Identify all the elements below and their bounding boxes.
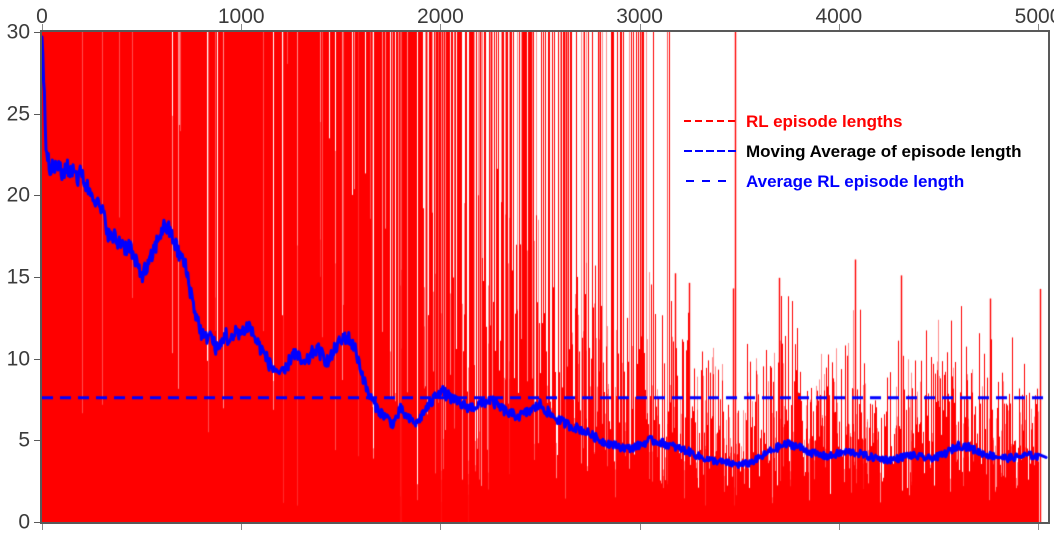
- legend-line-sample-blue-icon: [684, 145, 736, 157]
- y-tick-label-25: 25: [0, 103, 30, 124]
- y-tick-label-20: 20: [0, 185, 30, 206]
- legend-label-episode-lengths: RL episode lengths: [746, 113, 903, 130]
- plot-area: [40, 30, 1050, 524]
- x-tick-mark-bottom: [640, 524, 641, 530]
- chart-legend: RL episode lengths Moving Average of epi…: [684, 106, 1024, 196]
- y-tick-label-30: 30: [0, 22, 30, 43]
- legend-entry-moving-average: Moving Average of episode length: [684, 136, 1024, 166]
- legend-line-sample-blue-dashed-icon: [684, 175, 736, 187]
- y-tick-label-15: 15: [0, 267, 30, 288]
- x-tick-mark-bottom: [42, 524, 43, 530]
- x-tick-mark-bottom: [440, 524, 441, 530]
- legend-label-moving-average: Moving Average of episode length: [746, 143, 1022, 160]
- legend-line-sample-red-icon: [684, 115, 736, 127]
- y-tick-label-5: 5: [0, 430, 30, 451]
- y-tick-label-0: 0: [0, 512, 30, 533]
- x-tick-mark-bottom: [241, 524, 242, 530]
- x-tick-mark-bottom: [839, 524, 840, 530]
- x-tick-label-5000: 5000: [1015, 6, 1054, 27]
- legend-label-average-line: Average RL episode length: [746, 173, 964, 190]
- y-tick-label-10: 10: [0, 348, 30, 369]
- legend-entry-episode-lengths: RL episode lengths: [684, 106, 1024, 136]
- rl-episode-length-chart: 010002000300040005000 051015202530 RL ep…: [0, 0, 1054, 536]
- x-tick-mark-bottom: [1038, 524, 1039, 530]
- legend-entry-average-line: Average RL episode length: [684, 166, 1024, 196]
